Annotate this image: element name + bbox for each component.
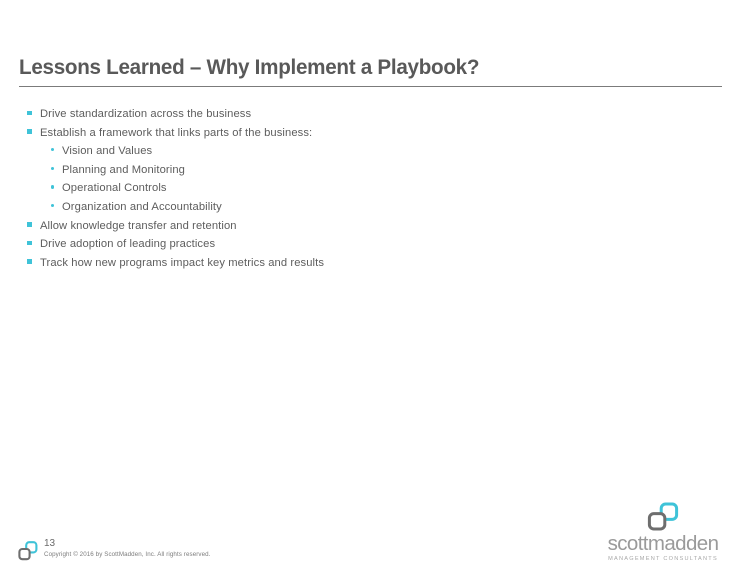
page-title: Lessons Learned – Why Implement a Playbo… [19, 54, 695, 80]
list-item: Drive adoption of leading practices [0, 234, 740, 253]
square-bullet-icon [27, 111, 32, 116]
list-item: Allow knowledge transfer and retention [0, 216, 740, 235]
list-item: Track how new programs impact key metric… [0, 253, 740, 272]
title-block: Lessons Learned – Why Implement a Playbo… [19, 54, 723, 80]
overlapping-squares-icon [17, 540, 39, 562]
list-item: Drive standardization across the busines… [0, 104, 740, 123]
bullet-list: Drive standardization across the busines… [0, 104, 740, 271]
slide-canvas: Lessons Learned – Why Implement a Playbo… [0, 0, 740, 572]
dot-bullet-icon [51, 167, 54, 170]
brand-logo: scottmadden MANAGEMENT CONSULTANTS [602, 502, 724, 563]
list-item-label: Drive standardization across the busines… [40, 108, 251, 120]
list-item-label: Track how new programs impact key metric… [40, 257, 324, 269]
square-bullet-icon [27, 222, 32, 227]
brand-wordmark: scottmadden [602, 533, 724, 554]
title-underline-rule [19, 86, 722, 87]
sub-list-item: Operational Controls [0, 178, 740, 197]
square-bullet-icon [27, 129, 32, 134]
list-item-label: Allow knowledge transfer and retention [40, 220, 237, 232]
list-item-label: Establish a framework that links parts o… [40, 127, 312, 139]
dot-bullet-icon [51, 148, 54, 151]
page-number: 13 [44, 538, 55, 550]
list-item: Establish a framework that links parts o… [0, 123, 740, 142]
scottmadden-squares-logo-icon [646, 502, 680, 532]
dot-bullet-icon [51, 185, 54, 188]
sub-list-item-label: Organization and Accountability [62, 201, 222, 213]
dot-bullet-icon [51, 204, 54, 207]
sub-list-item-label: Planning and Monitoring [62, 164, 185, 176]
sub-list-item: Vision and Values [0, 141, 740, 160]
sub-list-item-label: Vision and Values [62, 145, 152, 157]
square-bullet-icon [27, 241, 32, 246]
sub-list-item: Organization and Accountability [0, 197, 740, 216]
list-item-label: Drive adoption of leading practices [40, 238, 215, 250]
copyright-text: Copyright © 2016 by ScottMadden, Inc. Al… [44, 550, 211, 559]
brand-tagline: MANAGEMENT CONSULTANTS [602, 555, 724, 563]
sub-list-item-label: Operational Controls [62, 182, 167, 194]
sub-list-item: Planning and Monitoring [0, 160, 740, 179]
square-bullet-icon [27, 259, 32, 264]
